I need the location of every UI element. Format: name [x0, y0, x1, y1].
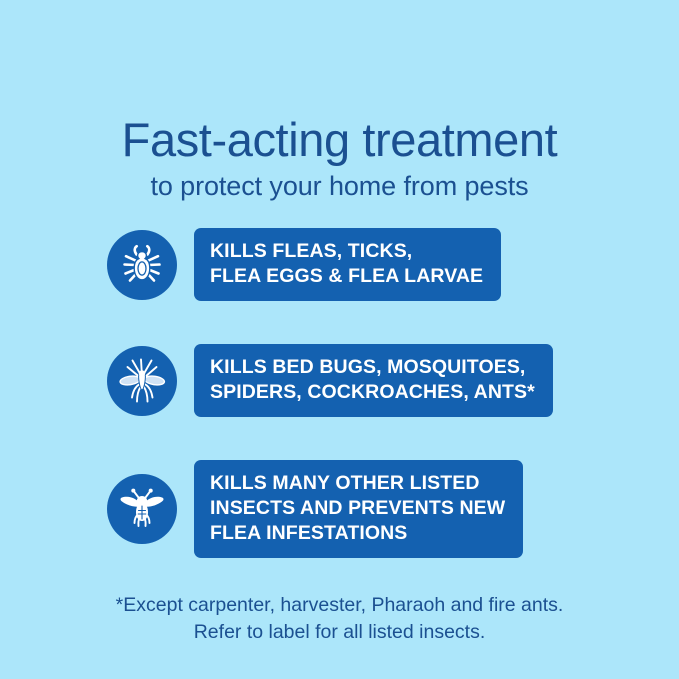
feature-row: KILLS MANY OTHER LISTED INSECTS AND PREV… — [107, 460, 587, 558]
feature-line: SPIDERS, COCKROACHES, ANTS* — [210, 380, 535, 405]
feature-text-box: KILLS FLEAS, TICKS, FLEA EGGS & FLEA LAR… — [194, 228, 501, 301]
feature-line: INSECTS AND PREVENTS NEW — [210, 496, 505, 521]
mosquito-icon — [115, 354, 169, 408]
tick-icon-badge — [107, 230, 177, 300]
fly-icon-badge — [107, 474, 177, 544]
feature-list: KILLS FLEAS, TICKS, FLEA EGGS & FLEA LAR… — [107, 228, 587, 558]
feature-row: KILLS BED BUGS, MOSQUITOES, SPIDERS, COC… — [107, 344, 587, 417]
feature-line: FLEA INFESTATIONS — [210, 521, 505, 546]
tick-icon — [116, 239, 168, 291]
page-title: Fast-acting treatment — [0, 112, 679, 168]
footnote-line: Refer to label for all listed insects. — [0, 619, 679, 646]
feature-line: KILLS FLEAS, TICKS, — [210, 239, 483, 264]
mosquito-icon-badge — [107, 346, 177, 416]
footnote: *Except carpenter, harvester, Pharaoh an… — [0, 592, 679, 646]
feature-line: KILLS BED BUGS, MOSQUITOES, — [210, 355, 535, 380]
feature-line: KILLS MANY OTHER LISTED — [210, 471, 505, 496]
footnote-line: *Except carpenter, harvester, Pharaoh an… — [0, 592, 679, 619]
feature-row: KILLS FLEAS, TICKS, FLEA EGGS & FLEA LAR… — [107, 228, 587, 301]
page-subtitle: to protect your home from pests — [0, 169, 679, 203]
promo-poster: Fast-acting treatment to protect your ho… — [0, 0, 679, 679]
feature-text-box: KILLS MANY OTHER LISTED INSECTS AND PREV… — [194, 460, 523, 558]
fly-icon — [116, 483, 168, 535]
headline-block: Fast-acting treatment to protect your ho… — [0, 112, 679, 203]
feature-line: FLEA EGGS & FLEA LARVAE — [210, 264, 483, 289]
feature-text-box: KILLS BED BUGS, MOSQUITOES, SPIDERS, COC… — [194, 344, 553, 417]
